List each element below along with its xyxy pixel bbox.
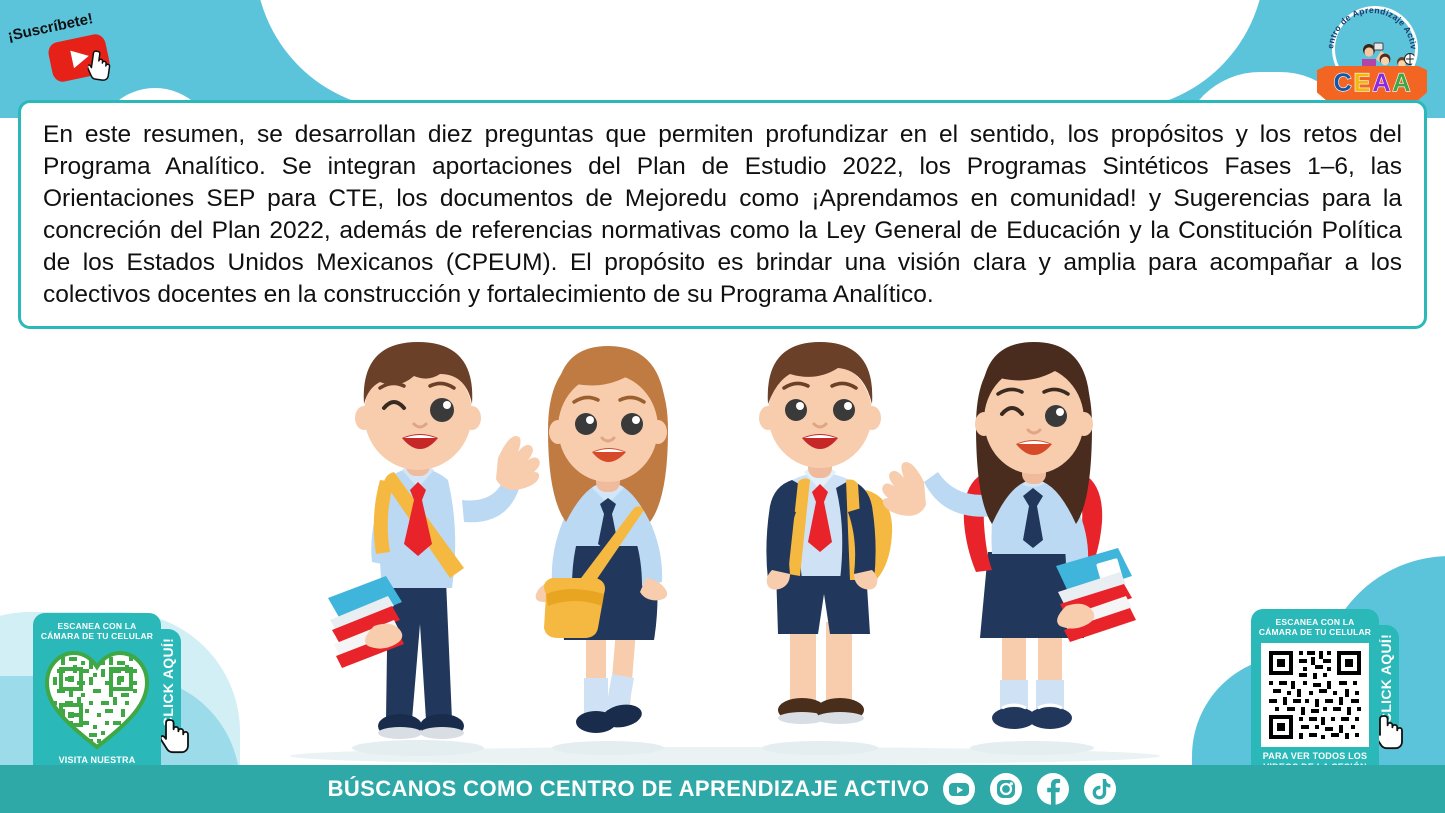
qr-caption-left-line1: ESCANEA CON LA: [39, 621, 155, 631]
qr-caption-left-line2: CÁMARA DE TU CELULAR: [39, 631, 155, 641]
child-4: [882, 342, 1136, 755]
logo-letter-a2: A: [1392, 71, 1410, 96]
footer-content: BÚSCANOS COMO CENTRO DE APRENDIZAJE ACTI…: [0, 765, 1445, 813]
logo-letter-e: E: [1354, 71, 1371, 96]
svg-text:Centro de Aprendizaje Activo: Centro de Aprendizaje Activo: [1313, 4, 1419, 50]
ceaa-logo: Centro de Aprendizaje Activo C E A A: [1313, 4, 1431, 102]
qr-caption-right-line1: ESCANEA CON LA: [1257, 617, 1373, 627]
logo-letter-a1: A: [1372, 71, 1390, 96]
qr-caption-right-line2: CÁMARA DE TU CELULAR: [1257, 627, 1373, 637]
top-white-shape-center: [255, 0, 1265, 110]
qr-panel-videos[interactable]: ESCANEA CON LA CÁMARA DE TU CELULAR: [1251, 609, 1379, 780]
child-2: [536, 346, 668, 755]
child-3: [759, 342, 892, 755]
qr-footer-left-line1: VISITA NUESTRA: [39, 755, 155, 766]
qr-footer-right-line1: PARA VER TODOS LOS: [1257, 751, 1373, 762]
heart-qr-code[interactable]: [43, 647, 151, 751]
footer-text: BÚSCANOS COMO CENTRO DE APRENDIZAJE ACTI…: [328, 776, 930, 802]
logo-letter-c: C: [1334, 71, 1352, 96]
youtube-play-icon: [46, 32, 111, 83]
logo-ring-label: Centro de Aprendizaje Activo: [1313, 4, 1419, 50]
youtube-icon[interactable]: [942, 772, 976, 806]
instagram-icon[interactable]: [989, 772, 1023, 806]
square-qr-code[interactable]: [1261, 643, 1369, 747]
subscribe-badge[interactable]: ¡Suscríbete!: [6, 6, 126, 86]
facebook-icon[interactable]: [1036, 772, 1070, 806]
click-here-label-left: ¡CLICK AQUÍ!: [160, 638, 176, 732]
tiktok-icon[interactable]: [1083, 772, 1117, 806]
students-illustration: [290, 330, 1170, 762]
logo-ribbon: C E A A: [1317, 66, 1427, 100]
slide-root: ¡Suscríbete!: [0, 0, 1445, 813]
summary-textbox: En este resumen, se desarrollan diez pre…: [18, 100, 1427, 329]
click-here-label-right: ¡CLICK AQUÍ!: [1378, 634, 1394, 728]
child-1: [328, 342, 540, 756]
summary-paragraph: En este resumen, se desarrollan diez pre…: [43, 119, 1402, 312]
